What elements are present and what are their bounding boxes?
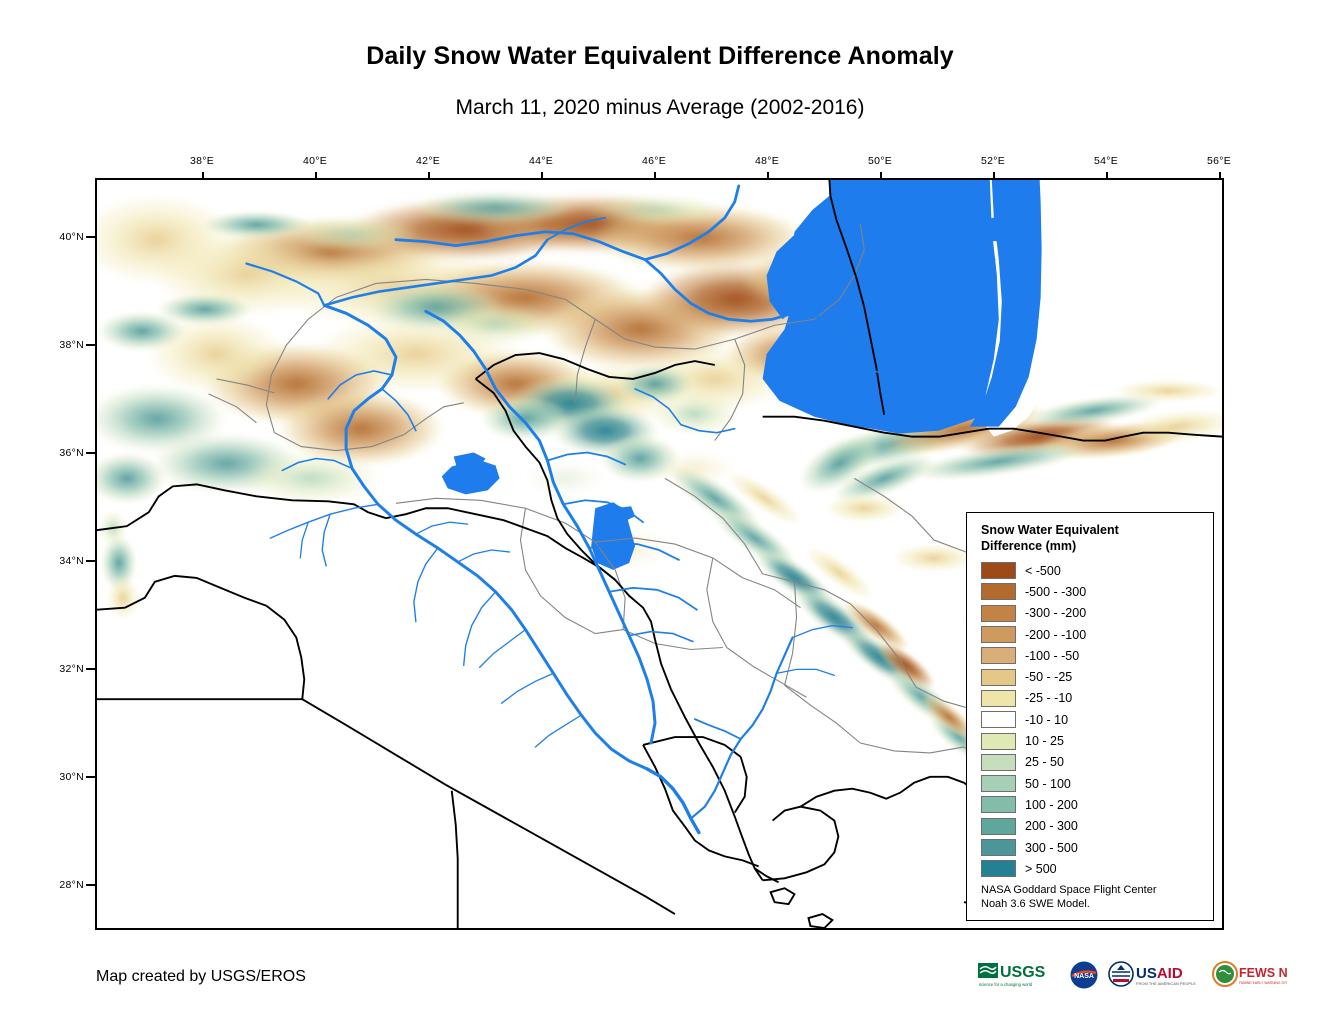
legend-swatch (981, 860, 1016, 877)
lon-label: 52°E (981, 155, 1005, 167)
legend-source-line2: Noah 3.6 SWE Model. (981, 898, 1156, 912)
legend-row: 25 - 50 (981, 752, 1213, 773)
legend-label: 25 - 50 (1025, 755, 1064, 769)
legend-swatch (981, 562, 1016, 579)
lat-label: 32°N (59, 663, 84, 675)
lat-label: 40°N (59, 231, 84, 243)
fewsnet-logo-mark: FEWS NET FAMINE EARLY WARNING SYSTEMS NE… (1212, 960, 1287, 990)
legend-label: 300 - 500 (1025, 841, 1078, 855)
legend-swatch (981, 605, 1016, 622)
legend-swatch (981, 690, 1016, 707)
lat-tick (86, 884, 95, 886)
legend-label: -500 - -300 (1025, 585, 1086, 599)
lat-tick (86, 776, 95, 778)
legend-label: -200 - -100 (1025, 628, 1086, 642)
page-subtitle: March 11, 2020 minus Average (2002-2016) (0, 96, 1320, 120)
legend-label: 10 - 25 (1025, 734, 1064, 748)
legend-label: > 500 (1025, 862, 1057, 876)
lon-label: 50°E (868, 155, 892, 167)
lat-tick (86, 452, 95, 454)
legend-label: < -500 (1025, 564, 1061, 578)
svg-text:FAMINE EARLY WARNING SYSTEMS N: FAMINE EARLY WARNING SYSTEMS NETWORK (1239, 981, 1287, 985)
lon-label: 48°E (755, 155, 779, 167)
usaid-logo[interactable]: USAID FROM THE AMERICAN PEOPLE (1108, 959, 1203, 991)
legend-row: < -500 (981, 560, 1213, 581)
legend-items: < -500-500 - -300-300 - -200-200 - -100-… (981, 560, 1213, 879)
lat-label: 30°N (59, 771, 84, 783)
lat-tick (86, 668, 95, 670)
legend-source-line1: NASA Goddard Space Flight Center (981, 884, 1156, 898)
legend-swatch (981, 583, 1016, 600)
legend-row: -500 - -300 (981, 581, 1213, 602)
legend-swatch (981, 818, 1016, 835)
lat-label: 38°N (59, 339, 84, 351)
legend-swatch (981, 669, 1016, 686)
legend-swatch (981, 647, 1016, 664)
usaid-logo-mark: USAID FROM THE AMERICAN PEOPLE (1108, 960, 1203, 990)
map-credit: Map created by USGS/EROS (96, 968, 306, 986)
lat-tick (86, 236, 95, 238)
lat-tick (86, 560, 95, 562)
legend-row: -300 - -200 (981, 603, 1213, 624)
legend-row: 200 - 300 (981, 816, 1213, 837)
legend-title-line2: Difference (mm) (981, 539, 1181, 555)
lon-label: 42°E (416, 155, 440, 167)
legend-swatch (981, 711, 1016, 728)
lon-label: 46°E (642, 155, 666, 167)
lat-tick (86, 344, 95, 346)
legend-row: -200 - -100 (981, 624, 1213, 645)
legend-title: Snow Water Equivalent Difference (mm) (981, 523, 1181, 554)
legend-swatch (981, 796, 1016, 813)
legend-label: -10 - 10 (1025, 713, 1068, 727)
legend-label: -300 - -200 (1025, 606, 1086, 620)
legend-row: > 500 (981, 858, 1213, 879)
svg-text:FEWS NET: FEWS NET (1239, 966, 1287, 980)
legend-row: -25 - -10 (981, 688, 1213, 709)
lat-label: 28°N (59, 879, 84, 891)
legend-swatch (981, 839, 1016, 856)
lon-label: 40°E (303, 155, 327, 167)
legend-label: -100 - -50 (1025, 649, 1079, 663)
legend-swatch (981, 754, 1016, 771)
legend-row: -10 - 10 (981, 709, 1213, 730)
legend-swatch (981, 775, 1016, 792)
legend-source: NASA Goddard Space Flight Center Noah 3.… (981, 884, 1156, 911)
legend-label: -25 - -10 (1025, 691, 1072, 705)
agency-logos: USGS science for a changing world NASA U… (978, 955, 1287, 995)
legend-label: 50 - 100 (1025, 777, 1071, 791)
legend-swatch (981, 626, 1016, 643)
nasa-logo-mark: NASA (1069, 960, 1099, 990)
svg-text:science for a changing world: science for a changing world (979, 982, 1033, 987)
legend-label: 100 - 200 (1025, 798, 1078, 812)
legend-row: 100 - 200 (981, 794, 1213, 815)
legend-label: -50 - -25 (1025, 670, 1072, 684)
svg-text:USGS: USGS (1000, 964, 1046, 981)
legend-title-line1: Snow Water Equivalent (981, 523, 1181, 539)
legend-row: 10 - 25 (981, 730, 1213, 751)
lat-label: 36°N (59, 447, 84, 459)
svg-text:NASA: NASA (1074, 973, 1094, 980)
legend-row: -50 - -25 (981, 666, 1213, 687)
legend-row: 300 - 500 (981, 837, 1213, 858)
lon-label: 56°E (1207, 155, 1231, 167)
page-title: Daily Snow Water Equivalent Difference A… (0, 42, 1320, 71)
svg-text:USAID: USAID (1136, 965, 1183, 982)
fewsnet-logo[interactable]: FEWS NET FAMINE EARLY WARNING SYSTEMS NE… (1212, 959, 1287, 991)
map-legend: Snow Water Equivalent Difference (mm) < … (966, 512, 1214, 921)
lat-label: 34°N (59, 555, 84, 567)
nasa-logo[interactable]: NASA (1069, 959, 1099, 991)
lon-label: 54°E (1094, 155, 1118, 167)
usgs-logo[interactable]: USGS science for a changing world (978, 959, 1060, 991)
legend-swatch (981, 733, 1016, 750)
lon-label: 38°E (190, 155, 214, 167)
svg-text:FROM THE AMERICAN PEOPLE: FROM THE AMERICAN PEOPLE (1136, 981, 1196, 986)
usgs-logo-mark: USGS science for a changing world (978, 960, 1060, 990)
legend-row: -100 - -50 (981, 645, 1213, 666)
legend-row: 50 - 100 (981, 773, 1213, 794)
lon-label: 44°E (529, 155, 553, 167)
legend-label: 200 - 300 (1025, 819, 1078, 833)
